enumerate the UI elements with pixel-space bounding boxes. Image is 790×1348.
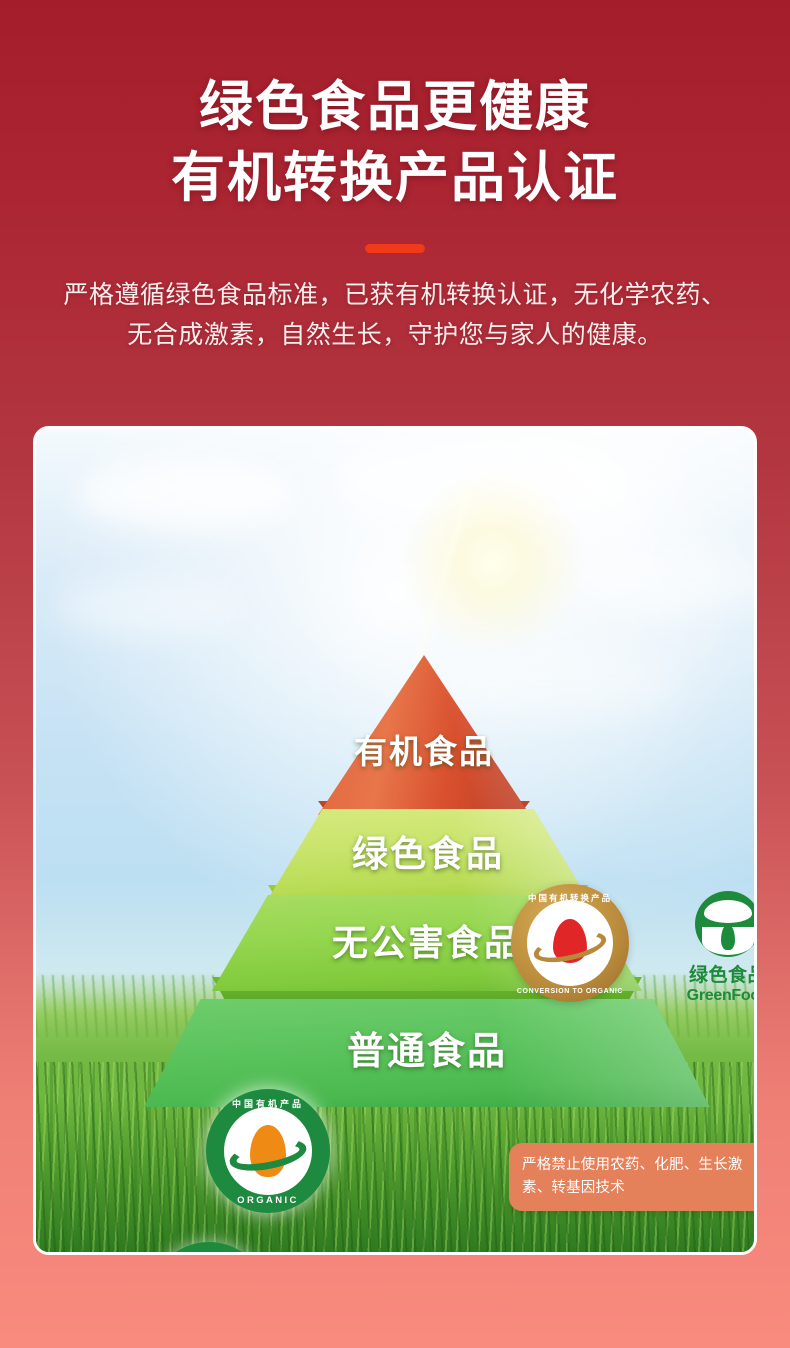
conversion-seal-arc-bottom-label: CONVERSION TO ORGANIC <box>511 988 629 995</box>
page-subtitle: 严格遵循绿色食品标准，已获有机转换认证，无化学农药、 无合成激素，自然生长，守护… <box>0 275 790 356</box>
page-subtitle-line-2: 无合成激素，自然生长，守护您与家人的健康。 <box>52 315 738 356</box>
organic-seal-arc-bottom-label: ORGANIC <box>206 1195 330 1206</box>
pyramid-tier-green-food: 绿色食品 <box>268 809 588 899</box>
pyramid-tier-common-food: 普通食品 <box>144 999 710 1107</box>
page-title-line-1: 绿色食品更健康 <box>0 72 790 143</box>
pyramid-tier-label-green-food: 绿色食品 <box>352 833 504 874</box>
pyramid-figure-card: 有机食品 绿色食品 无公害食品 普通食品 严格禁止使用农药、化肥、生长激素、转基… <box>33 426 757 1255</box>
pyramid-note-organic: 严格禁止使用农药、化肥、生长激素、转基因技术 <box>509 1143 757 1211</box>
pyramid-tier-organic: 有机食品 <box>318 655 530 815</box>
greenfood-bud-shape <box>721 924 735 950</box>
page-subtitle-line-1: 严格遵循绿色食品标准，已获有机转换认证，无化学农药、 <box>52 275 738 316</box>
page-title: 绿色食品更健康 有机转换产品认证 <box>0 72 790 215</box>
greenfood-leaf-shape <box>704 900 752 923</box>
title-divider <box>365 244 425 253</box>
conversion-to-organic-seal-icon: 中国有机转换产品 CONVERSION TO ORGANIC <box>511 884 629 1002</box>
pyramid-tier-label-pollution-free: 无公害食品 <box>332 922 522 963</box>
greenfood-logo: ® 绿色食品 GreenFood <box>676 891 757 1005</box>
pyramid-tier-label-common-food: 普通食品 <box>347 1031 507 1074</box>
pyramid-tier-label-organic: 有机食品 <box>354 733 494 771</box>
hero-section: 绿色食品更健康 有机转换产品认证 严格遵循绿色食品标准，已获有机转换认证，无化学… <box>0 0 790 356</box>
greenfood-name-en: GreenFood <box>676 987 757 1005</box>
greenfood-name-cn: 绿色食品 <box>676 960 757 987</box>
organic-seal-inner <box>224 1107 312 1195</box>
food-safety-pyramid: 有机食品 绿色食品 无公害食品 普通食品 <box>36 429 754 1252</box>
page-title-line-2: 有机转换产品认证 <box>0 143 790 214</box>
conversion-seal-inner <box>527 900 613 986</box>
china-organic-product-seal-icon: 中国有机产品 ORGANIC <box>206 1089 330 1213</box>
greenfood-mark-icon <box>695 891 757 957</box>
